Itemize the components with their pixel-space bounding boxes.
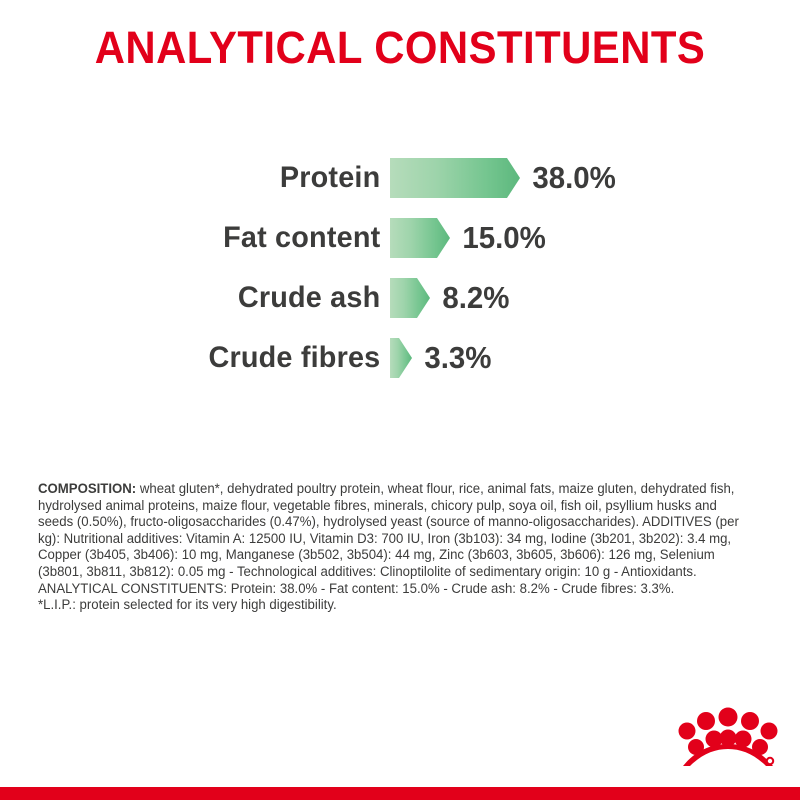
bar-protein <box>390 158 520 198</box>
constituent-value-crude-fibres: 3.3% <box>412 340 491 376</box>
bar-wrapper-crude-ash <box>390 278 430 318</box>
bar-fat-content <box>390 218 450 258</box>
analytical-constituents-chart: Protein 38.0% Fat content 15.0% Crude as… <box>0 148 800 388</box>
bar-crude-fibres <box>390 338 412 378</box>
composition-footnote: *L.I.P.: protein selected for its very h… <box>38 597 337 612</box>
constituent-value-protein: 38.0% <box>520 160 616 196</box>
bottom-accent-bar <box>0 787 800 800</box>
constituent-value-fat-content: 15.0% <box>450 220 546 256</box>
constituent-label-crude-fibres: Crude fibres <box>16 341 390 375</box>
royal-canin-logo <box>676 706 780 768</box>
bar-crude-ash <box>390 278 430 318</box>
bar-wrapper-protein <box>390 158 520 198</box>
page-title: ANALYTICAL CONSTITUENTS <box>28 22 772 74</box>
table-row: Crude fibres 3.3% <box>0 328 800 388</box>
constituent-label-protein: Protein <box>16 161 390 195</box>
crown-icon <box>676 706 780 768</box>
constituent-value-crude-ash: 8.2% <box>430 280 509 316</box>
table-row: Protein 38.0% <box>0 148 800 208</box>
table-row: Fat content 15.0% <box>0 208 800 268</box>
composition-heading: COMPOSITION: <box>38 481 136 496</box>
constituent-label-fat-content: Fat content <box>16 221 390 255</box>
bar-wrapper-crude-fibres <box>390 338 412 378</box>
table-row: Crude ash 8.2% <box>0 268 800 328</box>
constituent-label-crude-ash: Crude ash <box>16 281 390 315</box>
bar-wrapper-fat-content <box>390 218 450 258</box>
composition-body: wheat gluten*, dehydrated poultry protei… <box>38 481 739 596</box>
composition-paragraph: COMPOSITION: wheat gluten*, dehydrated p… <box>38 481 753 614</box>
